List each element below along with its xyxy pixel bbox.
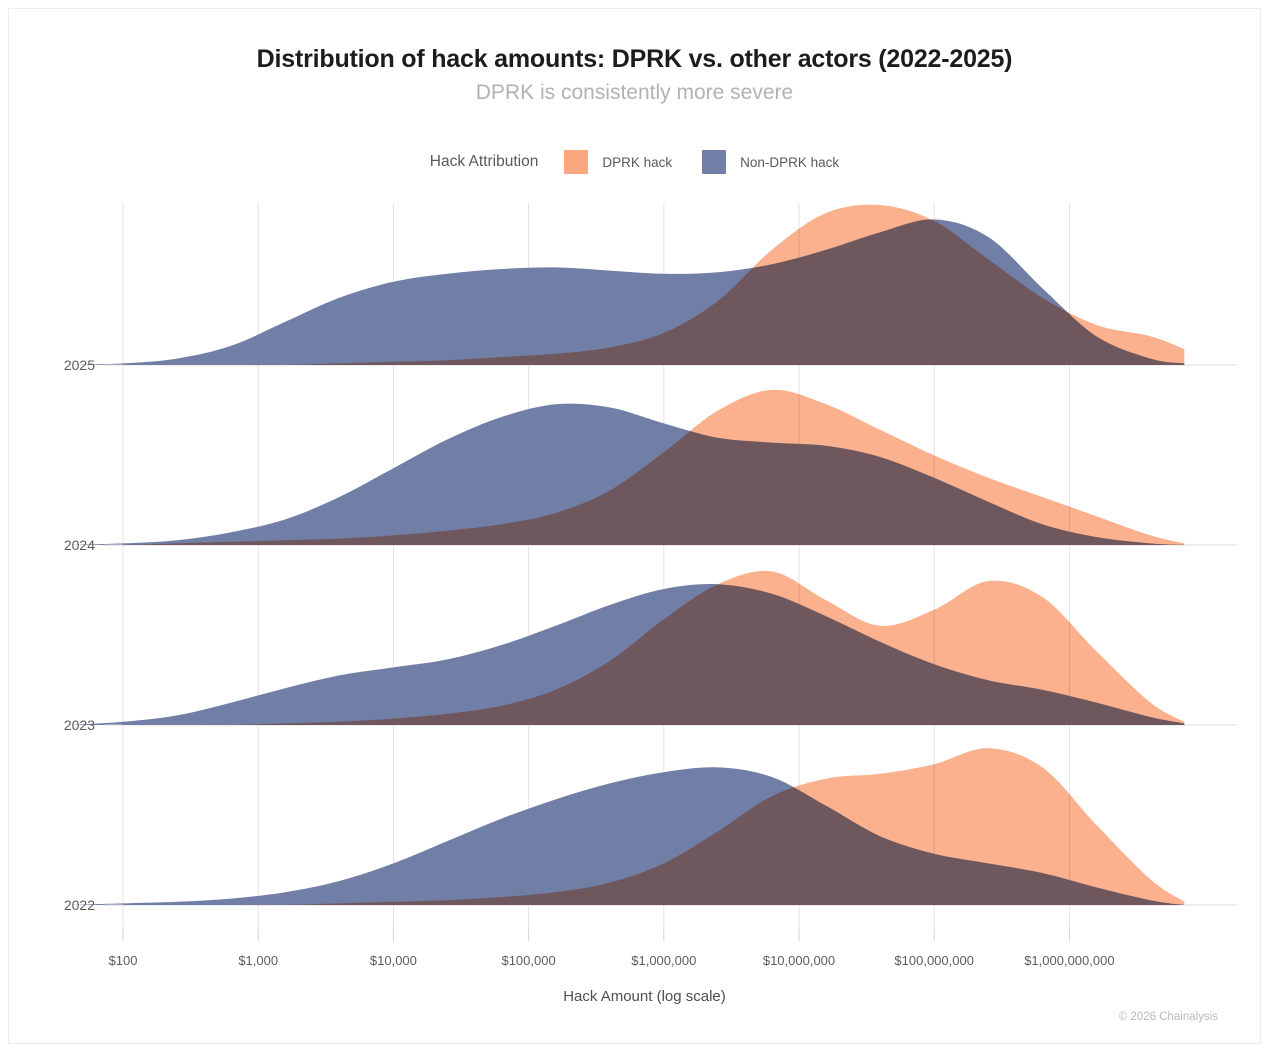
- x-tick-label: $100: [109, 953, 138, 968]
- ridge-row-2022: [69, 748, 1237, 905]
- y-axis: 2025202420232022: [64, 357, 123, 913]
- x-tick-label: $1,000: [238, 953, 278, 968]
- copyright-footer: © 2026 Chainalysis: [1119, 1011, 1218, 1023]
- x-tick-label: $10,000: [370, 953, 417, 968]
- x-axis-title: Hack Amount (log scale): [9, 988, 1271, 1005]
- ridge-row-2023: [69, 571, 1237, 725]
- x-tick-label: $100,000,000: [894, 953, 974, 968]
- ridgeline-plot: 2025202420232022$100$1,000$10,000$100,00…: [9, 9, 1271, 1054]
- x-tick-label: $10,000,000: [763, 953, 835, 968]
- ridge-row-2024: [69, 390, 1237, 545]
- y-tick-label-2025: 2025: [64, 357, 95, 373]
- ridgeline-svg: 2025202420232022$100$1,000$10,000$100,00…: [9, 9, 1271, 1054]
- y-tick-label-2022: 2022: [64, 897, 95, 913]
- x-tick-label: $1,000,000,000: [1024, 953, 1114, 968]
- x-axis: $100$1,000$10,000$100,000$1,000,000$10,0…: [109, 927, 1115, 968]
- chart-page: Distribution of hack amounts: DPRK vs. o…: [0, 0, 1271, 1054]
- ridge-row-2025: [69, 205, 1237, 366]
- y-tick-label-2024: 2024: [64, 537, 95, 553]
- x-tick-label: $100,000: [501, 953, 555, 968]
- chart-card: Distribution of hack amounts: DPRK vs. o…: [8, 8, 1261, 1044]
- x-tick-label: $1,000,000: [631, 953, 696, 968]
- ridges: [69, 205, 1237, 906]
- y-tick-label-2023: 2023: [64, 717, 95, 733]
